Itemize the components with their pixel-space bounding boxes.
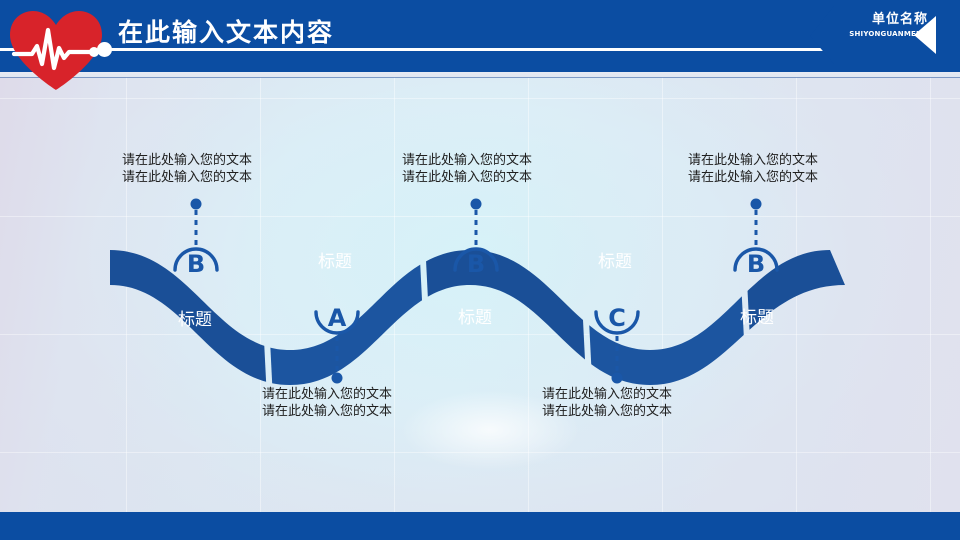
marker-a-letter: A: [308, 306, 366, 330]
caption-top-3-line2: 请在此处输入您的文本: [688, 169, 818, 186]
marker-b2[interactable]: B: [447, 198, 505, 284]
caption-top-3-line1: 请在此处输入您的文本: [688, 152, 818, 169]
page-title: 在此输入文本内容: [118, 18, 334, 48]
org-subtitle: SHIYONGUANMENG: [818, 29, 928, 39]
caption-bottom-2[interactable]: 请在此处输入您的文本 请在此处输入您的文本: [542, 386, 672, 420]
org-name: 单位名称: [818, 11, 928, 28]
marker-b2-letter: B: [447, 252, 505, 276]
caption-bottom-2-line2: 请在此处输入您的文本: [542, 403, 672, 420]
caption-top-1[interactable]: 请在此处输入您的文本 请在此处输入您的文本: [122, 152, 252, 186]
marker-c-letter: C: [588, 306, 646, 330]
marker-b1[interactable]: B: [167, 198, 225, 284]
caption-bottom-2-line1: 请在此处输入您的文本: [542, 386, 672, 403]
wave-segment-label-3: 标题: [430, 308, 520, 328]
org-label: 单位名称 SHIYONGUANMENG: [818, 11, 928, 39]
wave-segment-label-2: 标题: [290, 252, 380, 272]
header-underline: [0, 77, 960, 78]
wave-segment-label-5: 标题: [712, 308, 802, 328]
marker-b3-letter: B: [727, 252, 785, 276]
wave-segment-label-4: 标题: [570, 252, 660, 272]
caption-bottom-1-line2: 请在此处输入您的文本: [262, 403, 392, 420]
caption-top-2[interactable]: 请在此处输入您的文本 请在此处输入您的文本: [402, 152, 532, 186]
caption-bottom-1-line1: 请在此处输入您的文本: [262, 386, 392, 403]
header-connector-dot: [97, 42, 112, 57]
caption-top-2-line1: 请在此处输入您的文本: [402, 152, 532, 169]
caption-top-1-line1: 请在此处输入您的文本: [122, 152, 252, 169]
heart-ecg-icon: [6, 6, 106, 94]
slide-canvas: 在此输入文本内容 单位名称 SHIYONGUANMENG: [0, 0, 960, 540]
caption-top-3[interactable]: 请在此处输入您的文本 请在此处输入您的文本: [688, 152, 818, 186]
marker-c[interactable]: C: [588, 298, 646, 384]
wave-segment-label-1: 标题: [150, 310, 240, 330]
caption-bottom-1[interactable]: 请在此处输入您的文本 请在此处输入您的文本: [262, 386, 392, 420]
marker-a[interactable]: A: [308, 298, 366, 384]
footer-bar: [0, 512, 960, 540]
marker-b3[interactable]: B: [727, 198, 785, 284]
caption-top-2-line2: 请在此处输入您的文本: [402, 169, 532, 186]
caption-top-1-line2: 请在此处输入您的文本: [122, 169, 252, 186]
marker-b1-letter: B: [167, 252, 225, 276]
